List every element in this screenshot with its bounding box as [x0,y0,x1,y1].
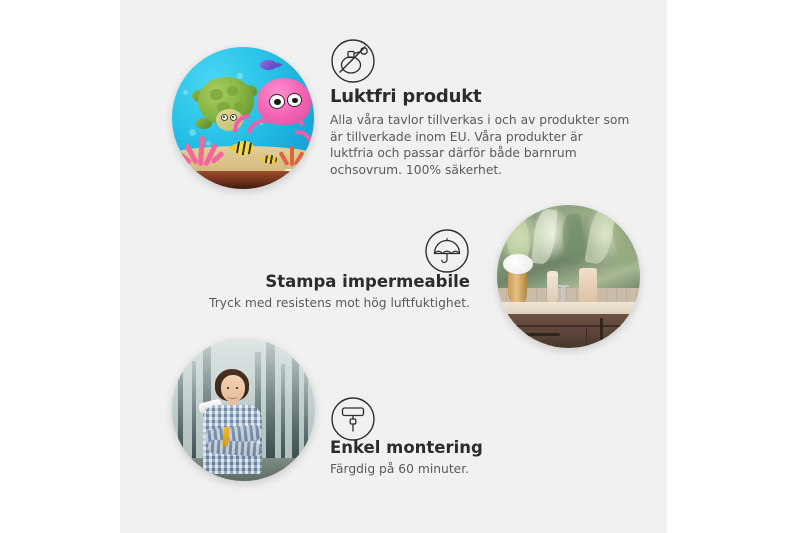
flowers [503,254,533,274]
feature-title: Enkel montering [330,438,483,457]
coral-icon [181,132,226,172]
painter-artwork [172,338,315,481]
cabinet-handle [600,318,603,339]
feature-body: Alla våra tavlor tillverkas i och av pro… [330,112,630,178]
sea-bottom-rocks [172,171,314,189]
feature-body: Färgdig på 60 minuter. [330,462,469,476]
towel [579,268,598,305]
paint-roller-icon [330,396,376,442]
octopus-head [257,78,311,125]
no-fragrance-icon [330,38,376,84]
product-image-aquarium[interactable] [172,47,314,189]
page-root: Luktfri produkt Alla våra tavlor tillver… [0,0,800,533]
cabinet-handle [629,318,632,339]
feature-title: Luktfri produkt [330,86,481,107]
feature-title: Stampa impermeabile [265,272,470,291]
umbrella-icon [424,228,470,274]
fish-icon [234,141,254,155]
bubble-icon [237,73,243,79]
bathroom-artwork [497,205,640,348]
feature-body: Tryck med resistens mot hög luftfuktighe… [209,296,470,310]
product-image-bathroom[interactable] [497,205,640,348]
faucet [561,285,565,302]
fish-icon [260,60,277,70]
aquarium-artwork [172,47,314,189]
product-image-painter[interactable] [172,338,315,481]
vanity-cabinet [497,314,640,348]
drawer-handle [523,333,560,336]
fish-icon [263,155,277,164]
